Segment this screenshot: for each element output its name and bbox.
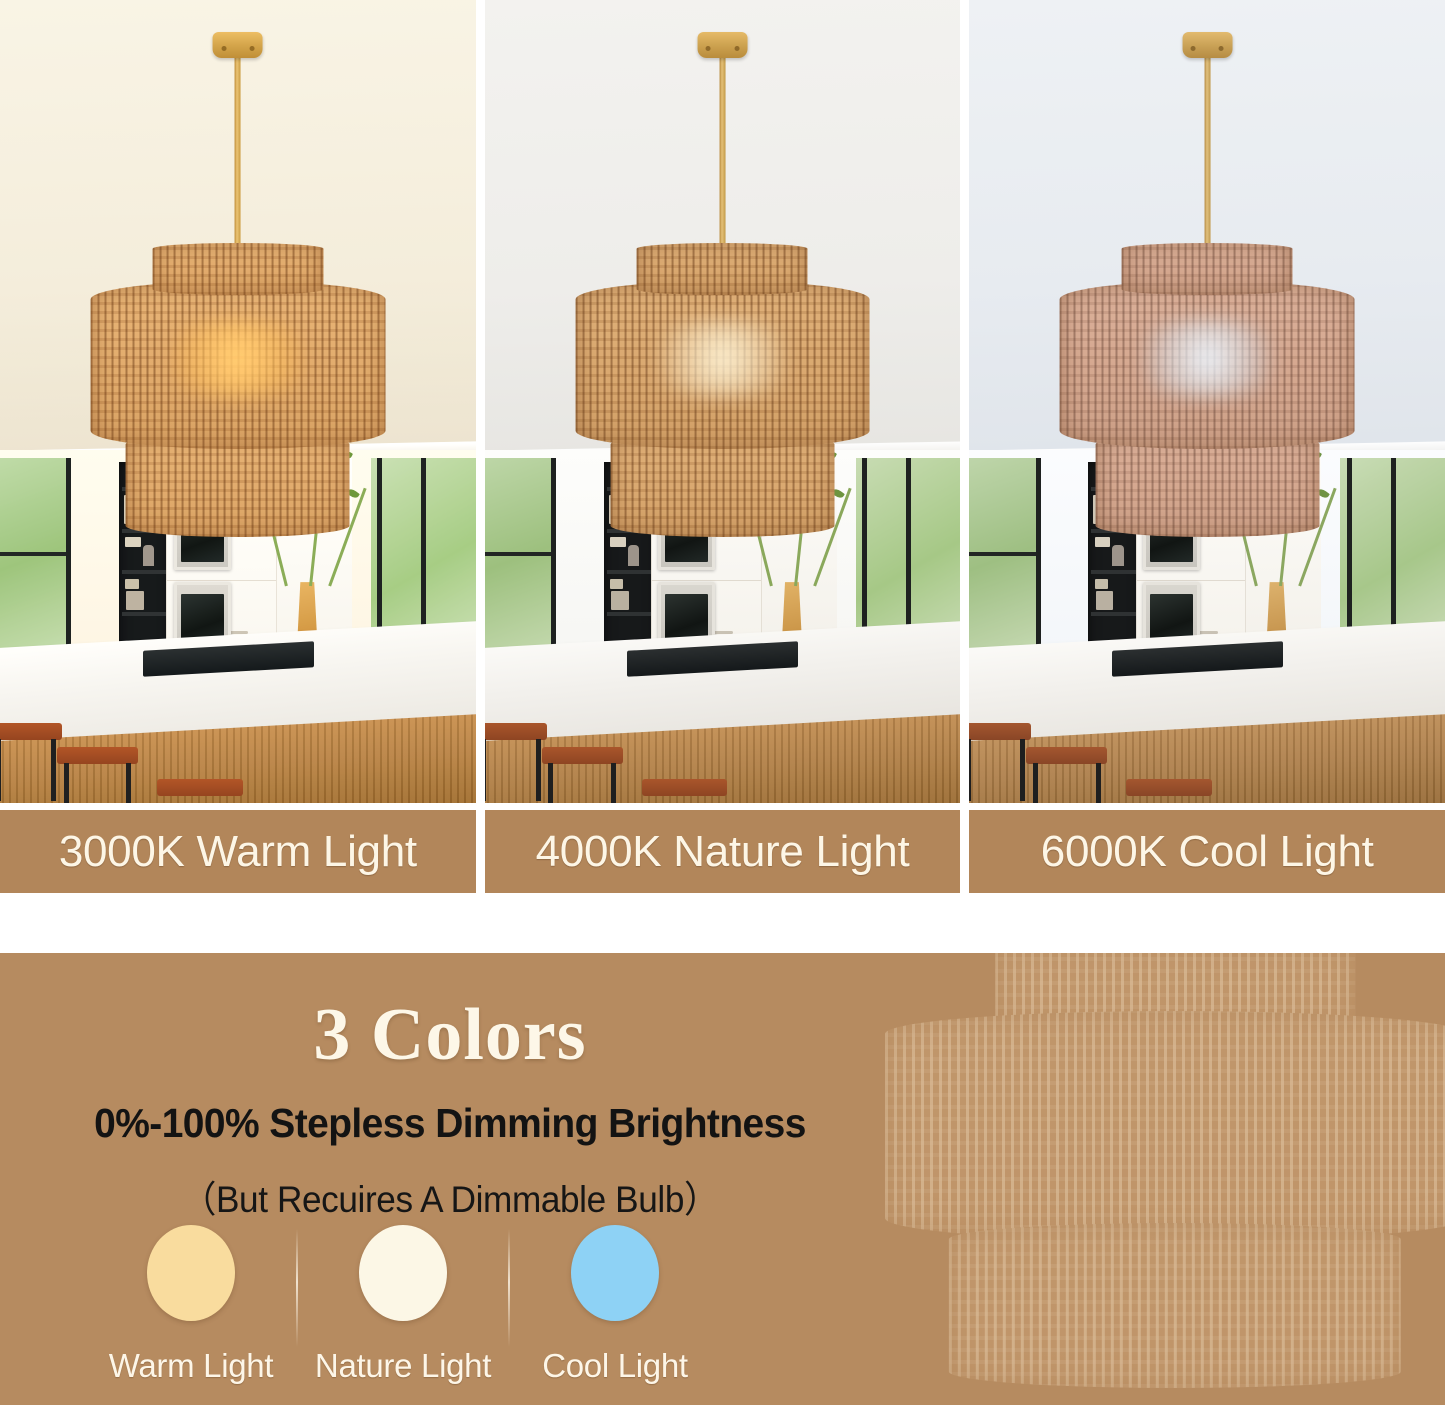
bulb-glow — [640, 320, 805, 397]
color-temperature-comparison: 3000K Warm Light — [0, 0, 1445, 893]
art-tier-top — [995, 953, 1355, 1033]
swatch-label-nature: Nature Light — [315, 1347, 491, 1385]
caption-cool: 6000K Cool Light — [969, 810, 1445, 893]
color-swatch-row: Warm Light Nature Light Cool Light — [86, 1225, 776, 1385]
caption-warm: 3000K Warm Light — [0, 810, 476, 893]
shade-tier-middle — [90, 281, 385, 449]
bulb-glow — [155, 320, 320, 397]
kitchen-scene-nature — [485, 0, 961, 803]
feature-title: 3 Colors — [0, 993, 900, 1078]
down-rod — [1204, 58, 1210, 243]
art-tier-bottom — [949, 1223, 1401, 1388]
comparison-panel-nature[interactable]: 4000K Nature Light — [485, 0, 961, 893]
shade-tier-top — [1122, 243, 1293, 295]
feature-note: （But Recuires A Dimmable Bulb） — [23, 1169, 878, 1223]
bar-stool — [1126, 779, 1212, 803]
woven-drum-shade — [1060, 243, 1355, 537]
ceiling-canopy — [697, 32, 747, 58]
kitchen-scene-cool — [969, 0, 1445, 803]
shade-tier-middle — [575, 281, 870, 449]
swatch-warm-light[interactable]: Warm Light — [86, 1225, 296, 1385]
bar-stool — [542, 747, 623, 803]
swatch-dot-warm-icon — [147, 1225, 235, 1321]
bar-stool — [0, 723, 62, 803]
swatch-dot-cool-icon — [571, 1225, 659, 1321]
comparison-panel-warm[interactable]: 3000K Warm Light — [0, 0, 476, 893]
down-rod — [235, 58, 241, 243]
bar-stool — [157, 779, 243, 803]
shade-tier-middle — [1060, 281, 1355, 449]
swatch-label-warm: Warm Light — [109, 1347, 273, 1385]
bar-stool — [969, 723, 1031, 803]
feature-subtitle: 0%-100% Stepless Dimming Brightness — [23, 1100, 878, 1147]
comparison-panel-cool[interactable]: 6000K Cool Light — [969, 0, 1445, 893]
swatch-dot-nature-icon — [359, 1225, 447, 1321]
chandelier-watermark-art — [885, 953, 1445, 1405]
bar-stool — [57, 747, 138, 803]
woven-drum-shade — [90, 243, 385, 537]
rattan-pendant-light — [1060, 32, 1355, 537]
woven-drum-shade — [575, 243, 870, 537]
caption-nature: 4000K Nature Light — [485, 810, 961, 893]
shade-tier-top — [637, 243, 808, 295]
swatch-nature-light[interactable]: Nature Light — [298, 1225, 508, 1385]
bulb-glow — [1125, 320, 1290, 397]
swatch-cool-light[interactable]: Cool Light — [510, 1225, 720, 1385]
rattan-pendant-light — [575, 32, 870, 537]
bar-stool — [642, 779, 728, 803]
ceiling-canopy — [1182, 32, 1232, 58]
swatch-label-cool: Cool Light — [542, 1347, 688, 1385]
shade-tier-top — [152, 243, 323, 295]
rattan-pendant-light — [90, 32, 385, 537]
ceiling-canopy — [213, 32, 263, 58]
art-tier-middle — [885, 1011, 1445, 1241]
down-rod — [720, 58, 726, 243]
kitchen-scene-warm — [0, 0, 476, 803]
bar-stool — [485, 723, 547, 803]
three-colors-feature-section: 3 Colors 0%-100% Stepless Dimming Bright… — [0, 953, 1445, 1405]
bar-stool — [1026, 747, 1107, 803]
feature-text-group: 3 Colors 0%-100% Stepless Dimming Bright… — [0, 953, 900, 1223]
